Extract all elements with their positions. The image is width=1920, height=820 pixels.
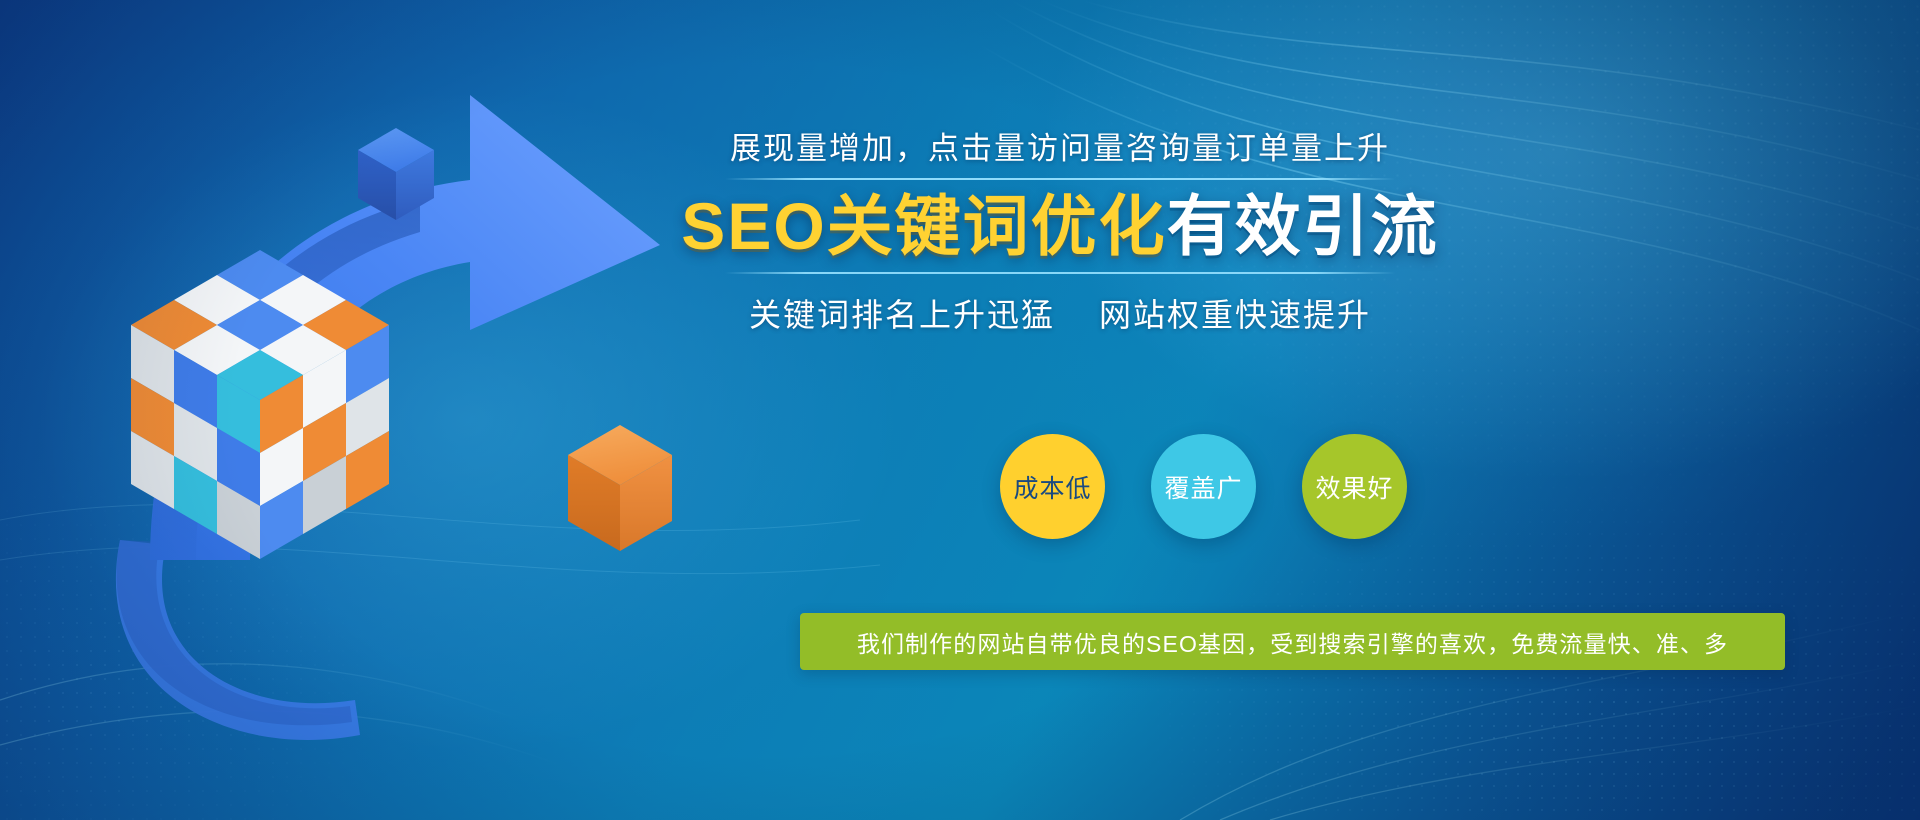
vignette-overlay [0, 0, 1920, 820]
sub-headline: 关键词排名上升迅猛网站权重快速提升 [645, 290, 1475, 336]
feature-badge-group: 成本低 覆盖广 效果好 [1000, 434, 1407, 539]
main-headline: SEO关键词优化有效引流 [645, 187, 1475, 266]
badge-wide-coverage-label: 覆盖广 [1164, 469, 1242, 505]
seo-promo-banner: 展现量增加，点击量访问量咨询量订单量上升 SEO关键词优化有效引流 关键词排名上… [0, 0, 1920, 820]
badge-good-results-label: 效果好 [1315, 469, 1393, 505]
sub-headline-left: 关键词排名上升迅猛 [749, 297, 1055, 333]
badge-low-cost: 成本低 [1000, 434, 1105, 539]
badge-low-cost-label: 成本低 [1013, 469, 1091, 505]
footer-note-bar: 我们制作的网站自带优良的SEO基因，受到搜索引擎的喜欢，免费流量快、准、多 [800, 613, 1785, 670]
badge-good-results: 效果好 [1302, 434, 1407, 539]
headline-highlight: SEO关键词优化 [681, 189, 1166, 263]
divider-bottom [725, 272, 1395, 274]
headline-block: 展现量增加，点击量访问量咨询量订单量上升 SEO关键词优化有效引流 关键词排名上… [645, 130, 1475, 336]
badge-wide-coverage: 覆盖广 [1151, 434, 1256, 539]
headline-rest: 有效引流 [1167, 189, 1439, 263]
footer-note-text: 我们制作的网站自带优良的SEO基因，受到搜索引擎的喜欢，免费流量快、准、多 [857, 625, 1728, 659]
sub-headline-right: 网站权重快速提升 [1099, 297, 1371, 333]
tagline-text: 展现量增加，点击量访问量咨询量订单量上升 [645, 130, 1475, 169]
divider-top [725, 178, 1395, 180]
